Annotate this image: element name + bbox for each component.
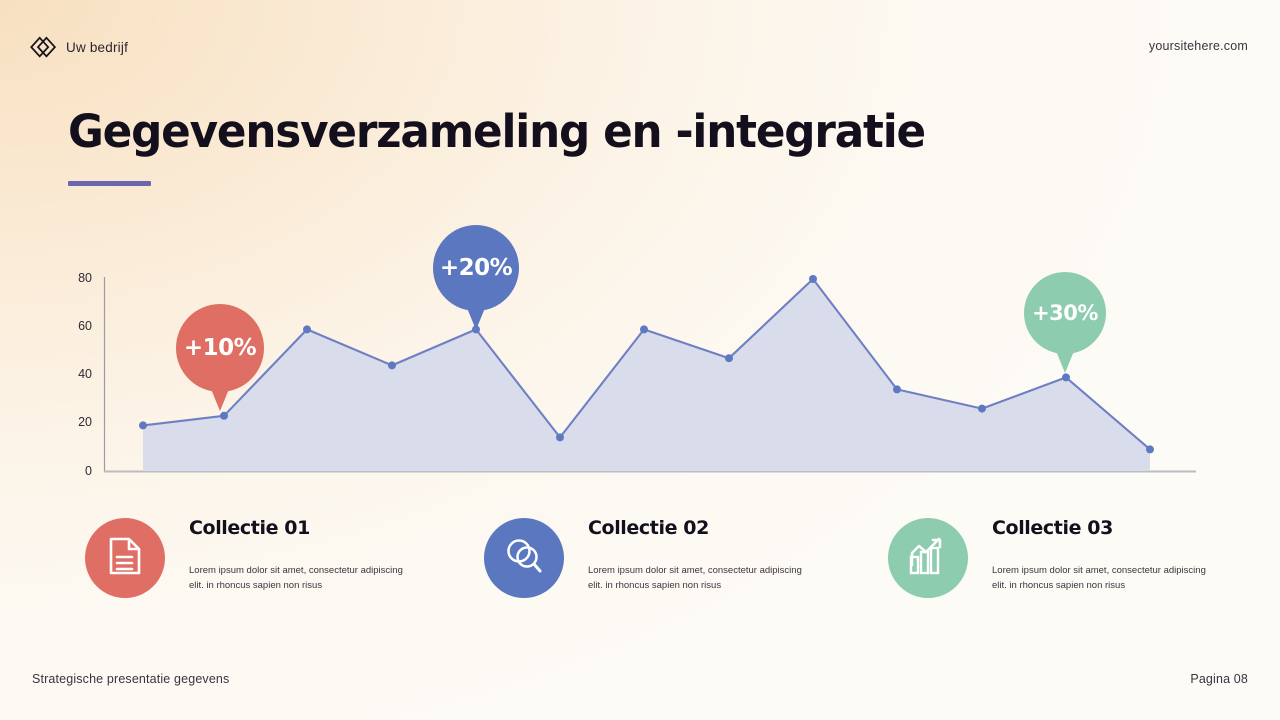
slide-header: Uw bedrijf yoursitehere.com (30, 34, 1248, 62)
data-point (139, 421, 147, 429)
callout-label: +20% (440, 255, 512, 281)
data-point (1062, 373, 1070, 381)
data-point (220, 412, 228, 420)
data-point (303, 325, 311, 333)
y-tick-40: 40 (78, 367, 92, 381)
data-point (893, 385, 901, 393)
bar-chart-growth-icon (906, 535, 950, 582)
callout-plus-20[interactable]: +20% (433, 225, 519, 311)
card-collectie-02[interactable]: Collectie 02 Lorem ipsum dolor sit amet,… (484, 512, 813, 598)
brand-block: Uw bedrijf (30, 34, 128, 61)
page-title: Gegevensverzameling en -integratie (68, 108, 925, 157)
chart-area-fill (143, 279, 1150, 471)
double-diamond-logo-icon (30, 34, 57, 61)
callout-label: +10% (184, 335, 256, 361)
card-icon-circle (484, 518, 564, 598)
callout-bubble: +20% (433, 225, 519, 311)
magnifier-search-icon (502, 534, 546, 583)
data-point (725, 354, 733, 362)
site-url: yoursitehere.com (1149, 39, 1248, 53)
card-title: Collectie 02 (588, 517, 813, 539)
callout-bubble: +30% (1024, 272, 1106, 354)
footer-subtitle: Strategische presentatie gegevens (32, 672, 229, 686)
card-description: Lorem ipsum dolor sit amet, consectetur … (189, 564, 414, 593)
data-point (556, 433, 564, 441)
data-point (809, 275, 817, 283)
card-title: Collectie 01 (189, 517, 414, 539)
card-icon-circle (85, 518, 165, 598)
card-body: Collectie 02 Lorem ipsum dolor sit amet,… (588, 512, 813, 593)
y-tick-0: 0 (85, 464, 92, 478)
card-title: Collectie 03 (992, 517, 1217, 539)
data-point (1146, 445, 1154, 453)
collection-cards: Collectie 01 Lorem ipsum dolor sit amet,… (0, 512, 1280, 612)
data-point (978, 405, 986, 413)
card-collectie-03[interactable]: Collectie 03 Lorem ipsum dolor sit amet,… (888, 512, 1217, 598)
title-underline-rule (68, 181, 151, 186)
data-point (640, 325, 648, 333)
card-description: Lorem ipsum dolor sit amet, consectetur … (588, 564, 813, 593)
callout-label: +30% (1032, 301, 1098, 325)
title-block: Gegevensverzameling en -integratie (68, 108, 951, 186)
callout-plus-10[interactable]: +10% (176, 304, 264, 392)
brand-name: Uw bedrijf (66, 40, 128, 55)
slide-canvas: Uw bedrijf yoursitehere.com Gegevensverz… (0, 0, 1280, 720)
card-icon-circle (888, 518, 968, 598)
y-tick-20: 20 (78, 415, 92, 429)
card-body: Collectie 03 Lorem ipsum dolor sit amet,… (992, 512, 1217, 593)
slide-footer: Strategische presentatie gegevens Pagina… (32, 672, 1248, 690)
data-point (388, 361, 396, 369)
callout-bubble: +10% (176, 304, 264, 392)
card-collectie-01[interactable]: Collectie 01 Lorem ipsum dolor sit amet,… (85, 512, 414, 598)
area-chart: 80 60 40 20 0 (0, 255, 1280, 490)
footer-page-number: Pagina 08 (1190, 672, 1248, 686)
callout-plus-30[interactable]: +30% (1024, 272, 1106, 354)
card-description: Lorem ipsum dolor sit amet, consectetur … (992, 564, 1217, 593)
y-tick-80: 80 (78, 271, 92, 285)
document-icon (105, 535, 145, 582)
card-body: Collectie 01 Lorem ipsum dolor sit amet,… (189, 512, 414, 593)
y-tick-60: 60 (78, 319, 92, 333)
